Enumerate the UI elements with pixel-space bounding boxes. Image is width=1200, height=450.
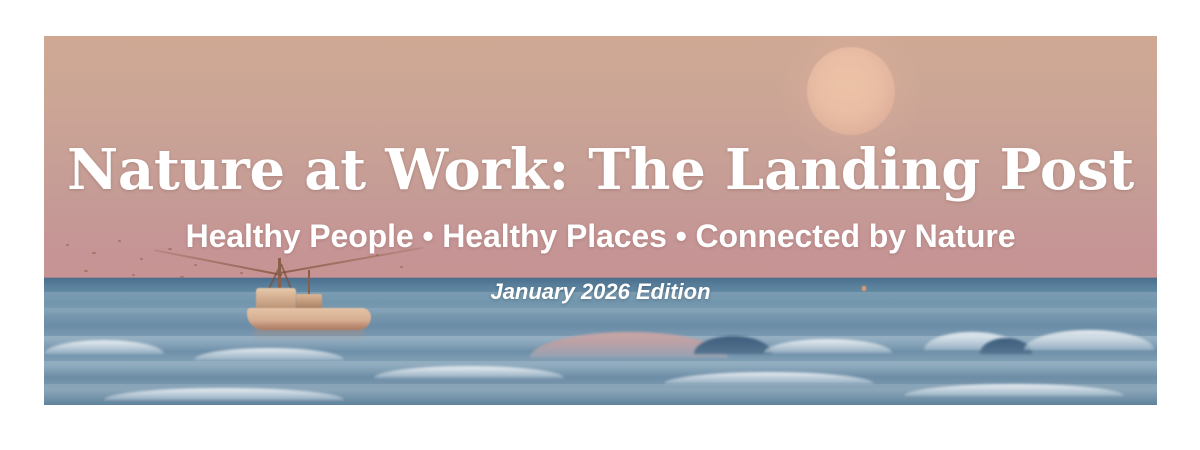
bird-speck: [132, 274, 135, 276]
page-root: Nature at Work: The Landing Post Healthy…: [0, 0, 1200, 450]
bird-speck: [240, 272, 243, 274]
boat-reflection: [254, 328, 364, 340]
moon-icon: [807, 47, 895, 135]
bird-speck: [194, 264, 197, 266]
sky-haze: [44, 186, 1157, 281]
newsletter-hero-banner: Nature at Work: The Landing Post Healthy…: [44, 36, 1157, 405]
bird-speck: [140, 258, 143, 260]
bird-speck: [84, 270, 88, 272]
boat-mast: [308, 270, 310, 296]
bird-speck: [92, 252, 96, 254]
bird-speck: [66, 244, 69, 246]
bird-speck: [118, 240, 121, 242]
horizon-line: [44, 277, 1157, 279]
bird-speck: [400, 266, 403, 268]
bird-speck: [168, 248, 172, 250]
boat-hull: [247, 308, 371, 330]
bird-speck: [222, 242, 225, 244]
distant-light-buoy: [862, 286, 866, 291]
